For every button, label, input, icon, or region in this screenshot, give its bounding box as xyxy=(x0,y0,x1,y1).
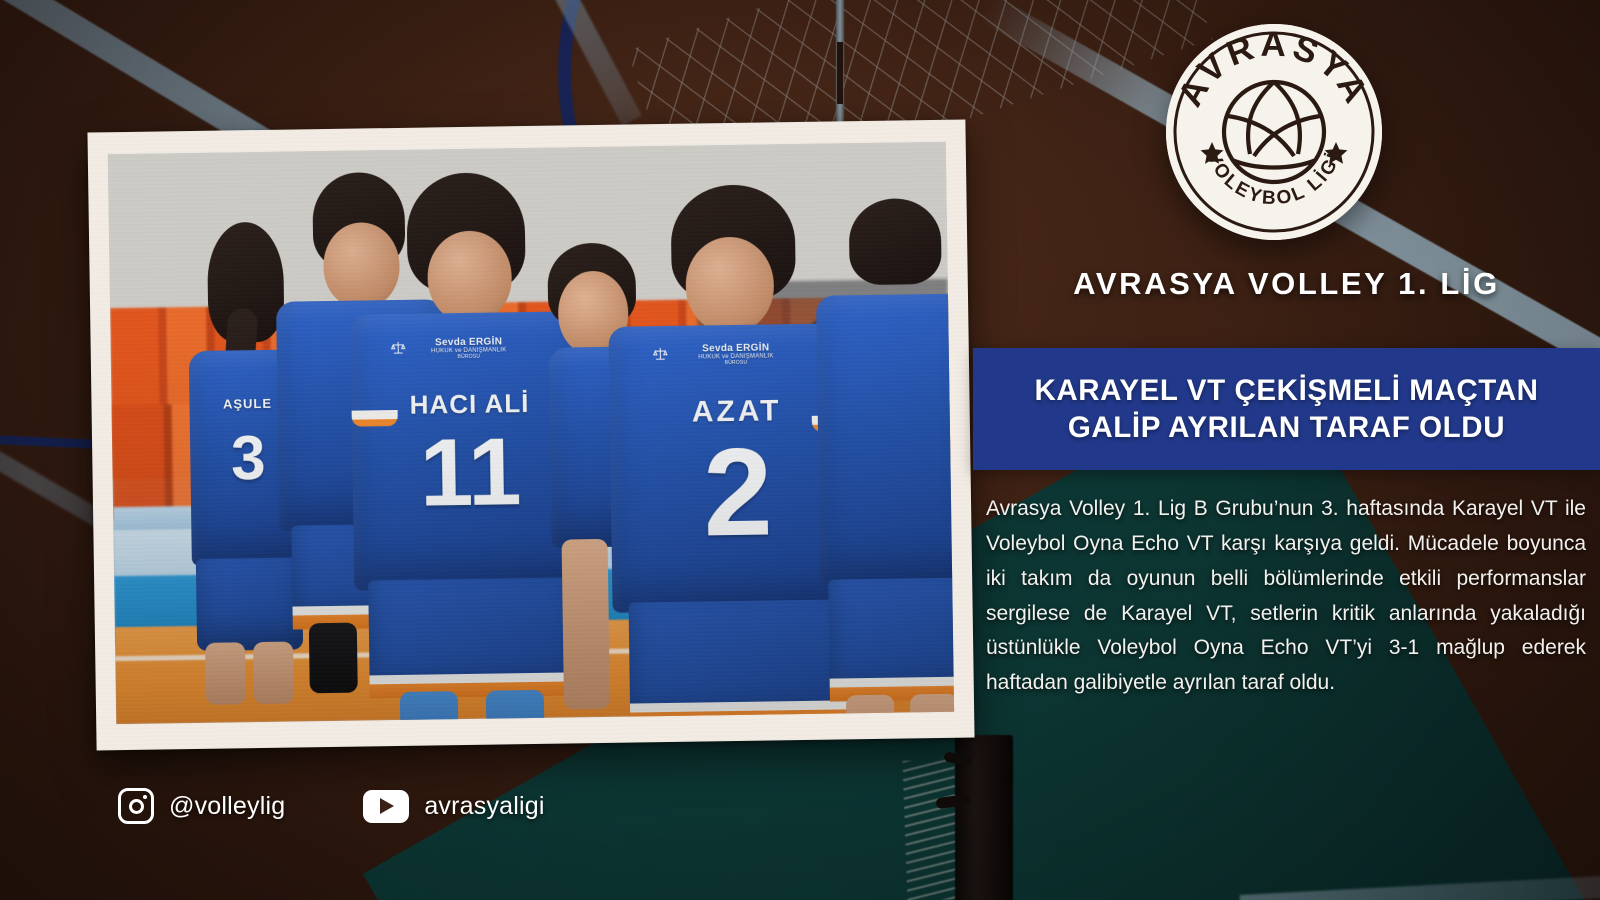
player-leg-right xyxy=(910,694,954,724)
article-body: Avrasya Volley 1. Lig B Grubu’nun 3. haf… xyxy=(986,492,1586,701)
scales-of-justice-icon xyxy=(653,346,668,361)
player-leg-left xyxy=(400,691,459,724)
player-leg-left xyxy=(562,539,611,710)
youtube-group[interactable]: avrasyaligi xyxy=(363,790,544,823)
youtube-icon[interactable] xyxy=(363,790,409,823)
social-footer: @volleylig avrasyaligi xyxy=(118,788,545,824)
youtube-handle[interactable]: avrasyaligi xyxy=(424,792,544,821)
instagram-icon[interactable] xyxy=(118,788,154,824)
player-head xyxy=(685,236,774,333)
player-right-edge xyxy=(809,197,955,724)
league-kicker: AVRASYA VOLLEY 1. LİG xyxy=(973,266,1600,302)
scales-of-justice-icon xyxy=(391,340,406,355)
league-logo-badge: AVRASYA VOLEYBOL LİGİ xyxy=(1166,24,1382,240)
poster-canvas: AŞULE 3 xyxy=(0,0,1600,900)
shorts-band-white xyxy=(830,676,955,687)
headline-line-1: KARAYEL VT ÇEKİŞMELİ MAÇTAN xyxy=(1034,372,1538,409)
player-leg-left xyxy=(205,642,246,705)
player-shorts xyxy=(828,578,954,702)
player-leg-left xyxy=(664,719,723,724)
sleeve-cuff xyxy=(352,410,398,427)
player-jersey xyxy=(816,293,954,585)
player-leg-left xyxy=(846,695,895,725)
headline: KARAYEL VT ÇEKİŞMELİ MAÇTAN GALİP AYRILA… xyxy=(1026,372,1546,446)
league-logo-svg: AVRASYA VOLEYBOL LİGİ xyxy=(1166,24,1382,240)
photo-card: AŞULE 3 xyxy=(87,120,974,751)
player-hair xyxy=(849,198,942,285)
player-leg-right xyxy=(752,718,811,724)
instagram-group[interactable]: @volleylig xyxy=(118,788,285,824)
instagram-handle[interactable]: @volleylig xyxy=(169,792,285,821)
headline-band: KARAYEL VT ÇEKİŞMELİ MAÇTAN GALİP AYRILA… xyxy=(973,348,1600,470)
player-head xyxy=(427,230,512,323)
headline-line-2: GALİP AYRILAN TARAF OLDU xyxy=(1034,409,1538,446)
match-photo: AŞULE 3 xyxy=(108,142,954,724)
